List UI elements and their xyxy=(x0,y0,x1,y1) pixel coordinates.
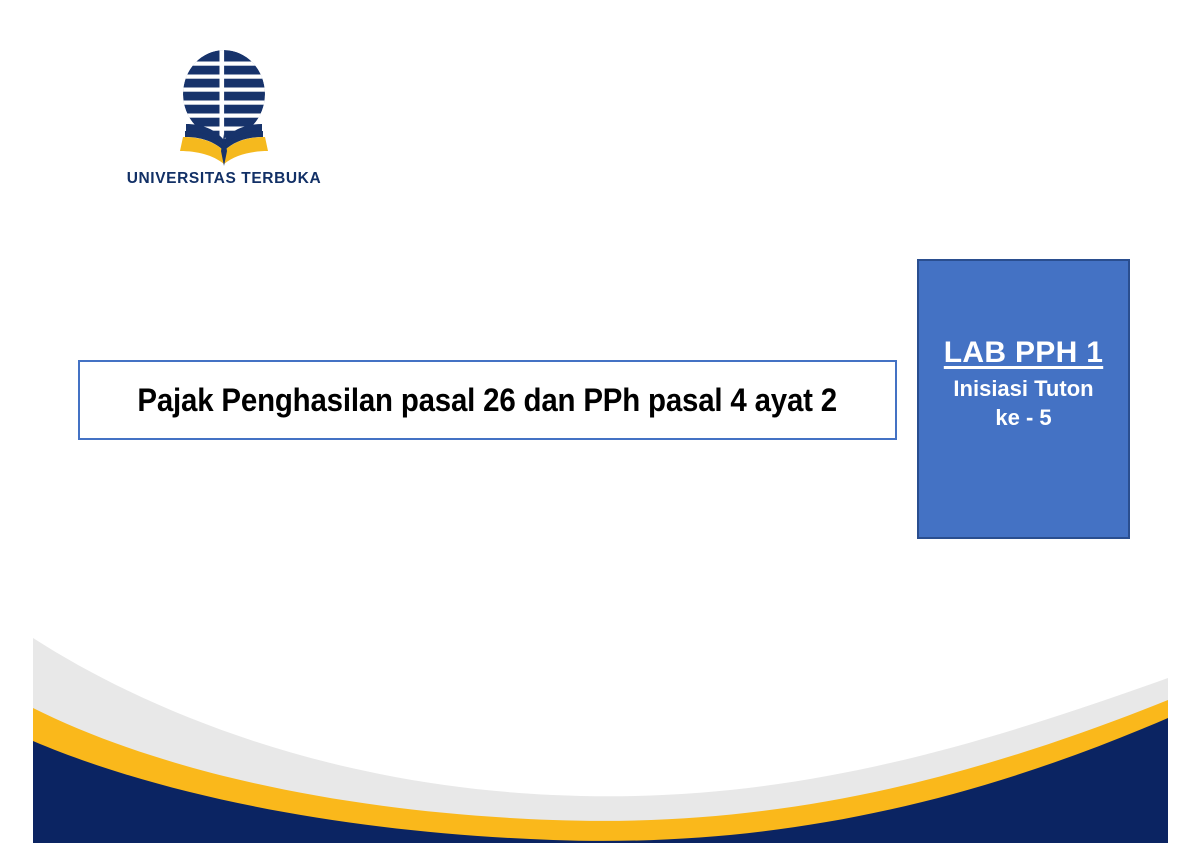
slide-title-box: Pajak Penghasilan pasal 26 dan PPh pasal… xyxy=(78,360,897,440)
universitas-terbuka-logo: UNIVERSITAS TERBUKA xyxy=(124,48,324,198)
bottom-decorative-wave xyxy=(33,600,1168,843)
lab-info-box: LAB PPH 1 Inisiasi Tuton ke - 5 xyxy=(917,259,1130,539)
slide-canvas: UNIVERSITAS TERBUKA Pajak Penghasilan pa… xyxy=(0,0,1200,849)
lab-box-subtitle-line1: Inisiasi Tuton xyxy=(953,376,1093,402)
logo-wordmark: UNIVERSITAS TERBUKA xyxy=(124,170,324,188)
lab-box-title: LAB PPH 1 xyxy=(944,335,1103,370)
lab-box-subtitle-line2: ke - 5 xyxy=(995,405,1051,431)
globe-book-logo-icon xyxy=(164,48,284,168)
slide-title-text: Pajak Penghasilan pasal 26 dan PPh pasal… xyxy=(138,382,838,419)
